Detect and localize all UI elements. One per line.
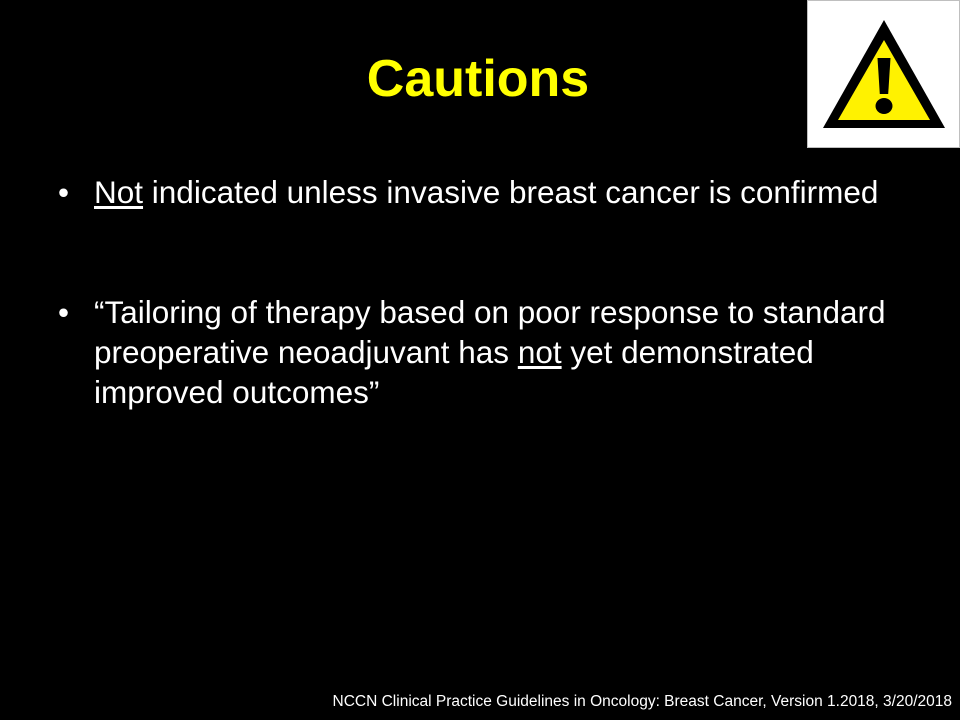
bullet-text-2: “Tailoring of therapy based on poor resp… [94,294,886,410]
warning-image-frame [807,0,960,148]
bullet-2-underlined-word: not [518,334,562,370]
bullet-spacer [44,212,924,292]
slide-title-text: Cautions [367,52,589,107]
bullet-list: • Not indicated unless invasive breast c… [44,172,924,412]
bullet-1-underlined-word: Not [94,174,143,210]
slide-canvas: Cautions • Not indicated unless invasive… [0,0,960,720]
list-item: • “Tailoring of therapy based on poor re… [44,292,924,412]
list-item: • Not indicated unless invasive breast c… [44,172,924,212]
bullet-text-1: Not indicated unless invasive breast can… [94,174,878,210]
source-citation: NCCN Clinical Practice Guidelines in Onc… [0,692,952,712]
bullet-1-rest: indicated unless invasive breast cancer … [143,174,878,210]
bullet-marker: • [58,172,84,212]
warning-triangle-icon [820,14,948,134]
bullet-marker: • [58,292,84,332]
